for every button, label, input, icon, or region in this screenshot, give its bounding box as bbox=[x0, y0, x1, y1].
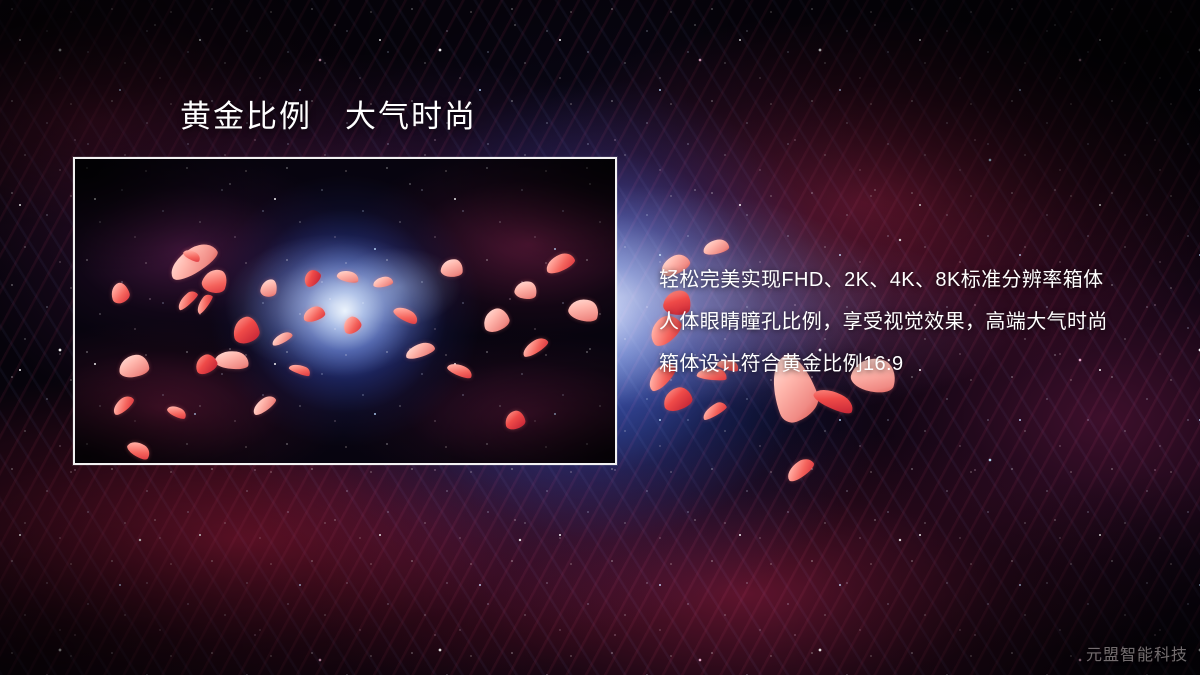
watermark: 元盟智能科技 bbox=[1086, 641, 1188, 665]
image-frame-content bbox=[75, 159, 615, 463]
image-frame bbox=[73, 157, 617, 465]
inner-vignette bbox=[75, 159, 615, 463]
body-copy: 轻松完美实现FHD、2K、4K、8K标准分辨率箱体 人体眼睛瞳孔比例，享受视觉效… bbox=[659, 259, 1164, 385]
body-line-1: 轻松完美实现FHD、2K、4K、8K标准分辨率箱体 bbox=[659, 259, 1164, 301]
page-title: 黄金比例 大气时尚 bbox=[180, 101, 477, 132]
body-line-2: 人体眼睛瞳孔比例，享受视觉效果，高端大气时尚 bbox=[659, 301, 1164, 343]
body-line-3: 箱体设计符合黄金比例16:9 bbox=[659, 343, 1164, 385]
presentation-slide: 黄金比例 大气时尚 轻松完美实现FHD、2K、4K、8K标准分辨率箱体 人体眼睛… bbox=[0, 0, 1200, 675]
